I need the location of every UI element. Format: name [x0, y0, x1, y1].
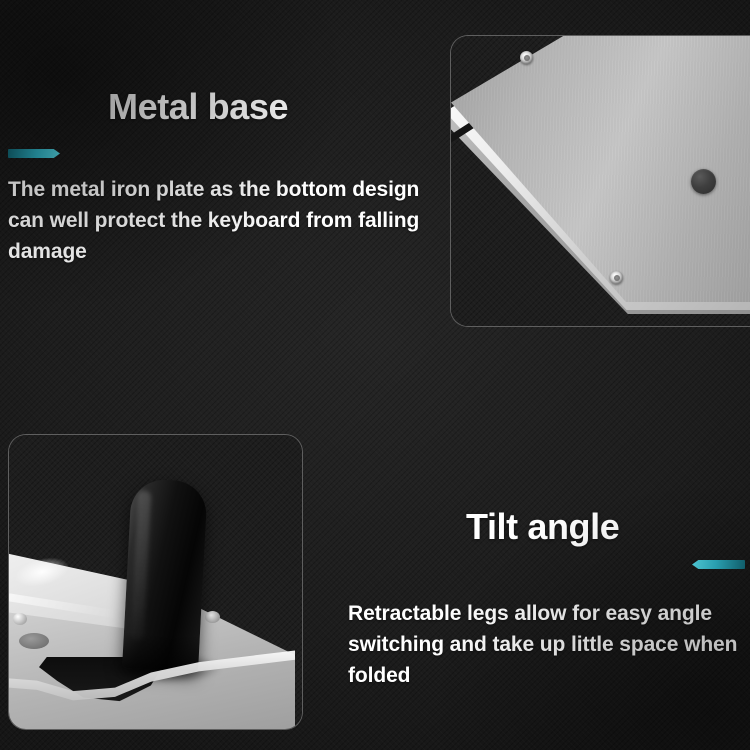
metal-base-photo-frame: [450, 35, 750, 327]
metal-base-headline: Metal base: [108, 88, 288, 126]
metal-base-accent-bar: [8, 149, 60, 158]
product-feature-infographic: Metal base The metal iron plate as the b…: [0, 0, 750, 750]
retractable-leg: [122, 478, 208, 672]
plate-screw-top-icon: [520, 51, 533, 64]
tilt-angle-photo-frame: [8, 434, 303, 730]
deck-port-hole: [19, 633, 49, 649]
tilt-angle-photo: [9, 435, 302, 729]
plate-screw-bottom-icon: [610, 271, 623, 284]
rubber-foot: [691, 169, 716, 194]
tilt-angle-accent-bar: [692, 560, 745, 569]
tilt-angle-body-text: Retractable legs allow for easy angle sw…: [348, 598, 748, 691]
deck-screw-left-icon: [13, 613, 27, 625]
tilt-angle-headline: Tilt angle: [466, 508, 619, 546]
metal-base-photo: [451, 36, 750, 326]
deck-screw-right-icon: [205, 611, 220, 623]
metal-base-body-text: The metal iron plate as the bottom desig…: [8, 174, 452, 267]
